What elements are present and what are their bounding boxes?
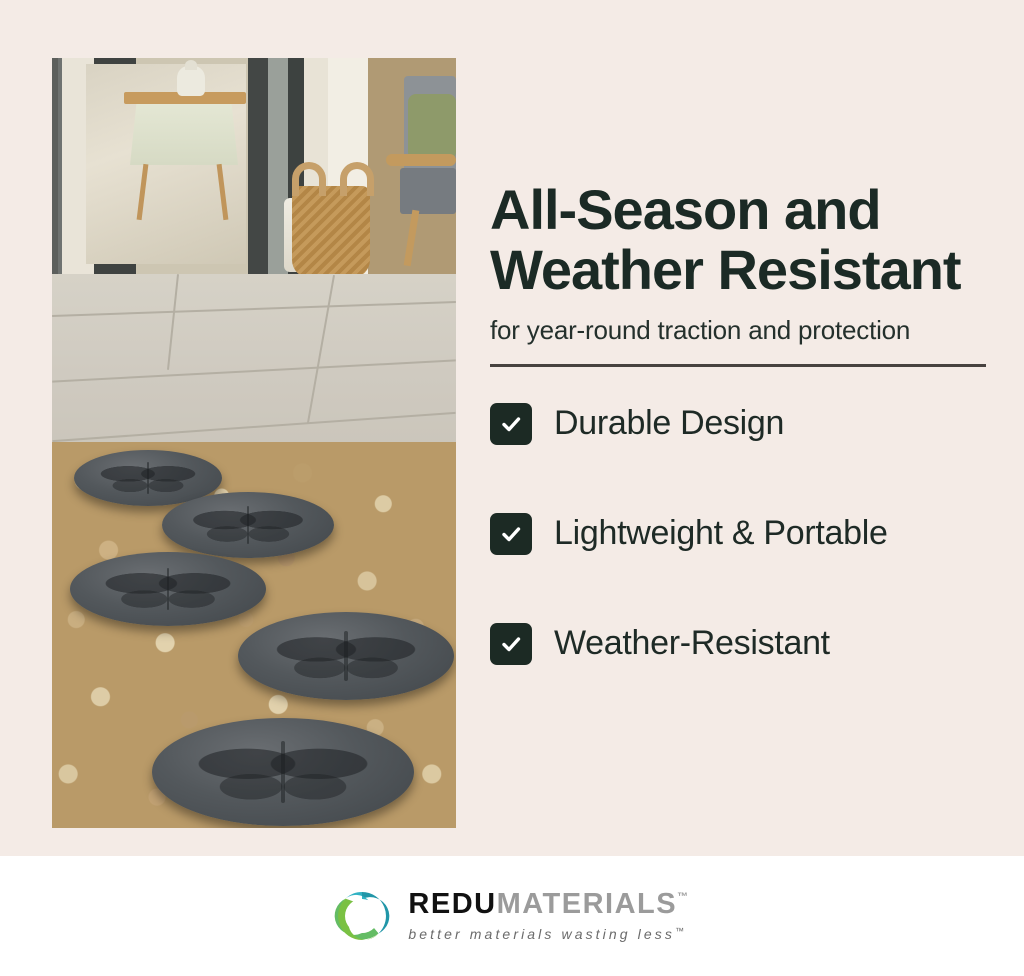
stepping-stone bbox=[162, 492, 334, 558]
tagline-trademark-symbol: ™ bbox=[675, 927, 684, 936]
divider bbox=[490, 364, 986, 367]
headline-line-2: Weather Resistant bbox=[490, 238, 961, 301]
brand-wordmark: REDU MATERIALS ™ bbox=[408, 890, 689, 919]
butterfly-motif bbox=[183, 500, 314, 550]
photo-chair-seat bbox=[400, 168, 456, 214]
feature-list: Durable Design Lightweight & Portable We… bbox=[490, 403, 990, 665]
butterfly-motif bbox=[92, 457, 205, 500]
page-title: All-Season and Weather Resistant bbox=[490, 180, 990, 301]
photo-chair-arm bbox=[386, 154, 456, 166]
feature-item-durable-design: Durable Design bbox=[490, 403, 990, 445]
butterfly-motif bbox=[94, 561, 243, 617]
content-column: All-Season and Weather Resistant for yea… bbox=[490, 180, 990, 665]
photo-basket-handle-left bbox=[292, 162, 326, 196]
photo-vase bbox=[177, 66, 205, 96]
product-photo bbox=[52, 58, 456, 828]
feature-item-lightweight-portable: Lightweight & Portable bbox=[490, 513, 990, 555]
stepping-stone bbox=[70, 552, 266, 626]
feature-label: Durable Design bbox=[554, 404, 784, 443]
brand-tagline-text: better materials wasting less bbox=[408, 926, 675, 942]
feature-label: Lightweight & Portable bbox=[554, 514, 888, 553]
feature-label: Weather-Resistant bbox=[554, 624, 830, 663]
photo-vase-lid bbox=[185, 60, 197, 70]
trademark-symbol: ™ bbox=[677, 892, 690, 903]
photo-woven-basket bbox=[292, 186, 370, 278]
check-icon bbox=[490, 403, 532, 445]
check-icon bbox=[490, 513, 532, 555]
headline-line-1: All-Season and bbox=[490, 178, 881, 241]
brand-name-secondary: MATERIALS bbox=[497, 890, 678, 919]
footer-bar: REDU MATERIALS ™ better materials wastin… bbox=[0, 856, 1024, 976]
stepping-stone bbox=[238, 612, 454, 700]
butterfly-motif bbox=[183, 731, 382, 813]
photo-basket-handle-right bbox=[340, 162, 374, 196]
brand-text-block: REDU MATERIALS ™ better materials wastin… bbox=[408, 890, 689, 942]
hero-panel: All-Season and Weather Resistant for yea… bbox=[0, 0, 1024, 856]
photo-green-pillow bbox=[408, 94, 456, 160]
brand-tagline: better materials wasting less ™ bbox=[408, 926, 689, 942]
stepping-stone bbox=[152, 718, 414, 826]
circular-swirl-logo-icon bbox=[334, 888, 390, 944]
brand-name-primary: REDU bbox=[408, 890, 496, 919]
check-icon bbox=[490, 623, 532, 665]
brand-logo-lockup: REDU MATERIALS ™ better materials wastin… bbox=[334, 888, 689, 944]
photo-tablecloth bbox=[130, 103, 238, 165]
feature-item-weather-resistant: Weather-Resistant bbox=[490, 623, 990, 665]
subtitle: for year-round traction and protection bbox=[490, 315, 990, 346]
butterfly-motif bbox=[264, 623, 428, 690]
